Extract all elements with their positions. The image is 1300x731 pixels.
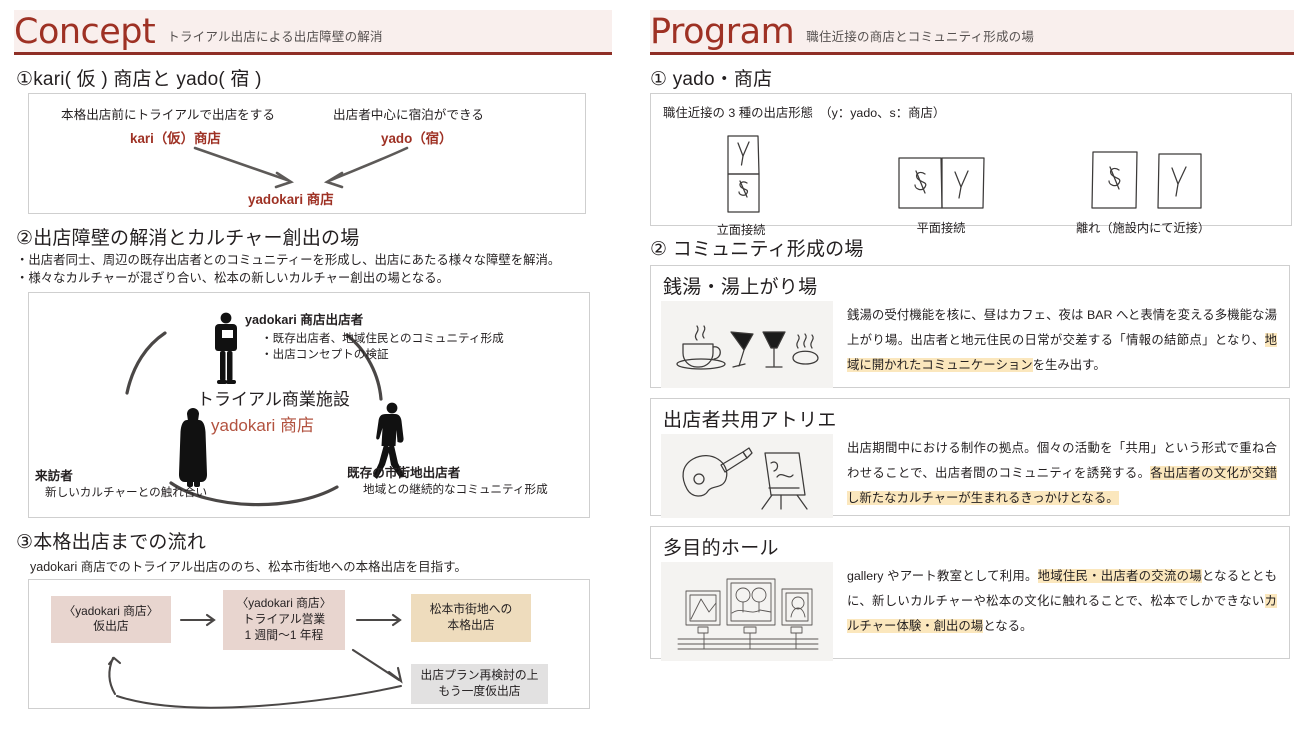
card-body: 銭湯の受付機能を核に、昼はカフェ、夜は BAR へと表情を変える多機能な湯上がり…	[651, 301, 1289, 388]
kari-yado-diagram-box: 本格出店前にトライアルで出店をする 出店者中心に宿泊ができる kari（仮）商店…	[28, 93, 586, 214]
program-subtitle: 職住近接の商店とコミュニティ形成の場	[794, 26, 1034, 52]
concept-title: Concept	[14, 15, 155, 52]
type-planar-connection: 平面接続	[893, 152, 989, 236]
type-detached: 離れ（施設内にて近接）	[1071, 148, 1215, 236]
flow-arrows	[29, 580, 589, 708]
card-title: 多目的ホール	[663, 533, 1289, 560]
concept-section2-bullets: ・出店者同士、周辺の既存出店者とのコミュニティーを形成し、出店にあたる様々な障壁…	[16, 252, 620, 288]
yado-shop-types-caption: 職住近接の 3 種の出店形態 （y：yado、s：商店）	[663, 103, 945, 121]
card-body: 出店期間中における制作の拠点。個々の活動を「共用」という形式で重ね合わせることで…	[651, 434, 1289, 518]
community-cycle-box: yadokari 商店出店者 ・既存出店者、地域住民とのコミュニティ形成 ・出店…	[28, 292, 590, 518]
concept-section3-heading: ③本格出店までの流れ	[16, 527, 620, 554]
card-text-run: gallery やアート教室として利用。	[847, 569, 1038, 583]
flow-diagram-box: 〈yadokari 商店〉仮出店 〈yadokari 商店〉トライアル営業1 週…	[28, 579, 590, 709]
role-existing-tenant-name: 既存の市街地出店者	[347, 462, 460, 481]
bath-cafe-bar-icon	[661, 301, 833, 388]
figure-visitor-icon	[178, 406, 208, 490]
type-caption: 離れ（施設内にて近接）	[1071, 218, 1215, 236]
card-sento: 銭湯・湯上がり場	[650, 265, 1290, 388]
vertical-stack-icon	[713, 132, 769, 216]
role-yadokari-tenant-detail: ・既存出店者、地域住民とのコミュニティ形成 ・出店コンセプトの検証	[261, 331, 504, 362]
palette-easel-icon	[661, 434, 833, 518]
palette-easel-glyphs	[677, 443, 817, 509]
card-title: 銭湯・湯上がり場	[663, 272, 1289, 299]
role-yadokari-tenant-name: yadokari 商店出店者	[245, 309, 363, 328]
card-hall: 多目的ホール	[650, 526, 1290, 659]
card-body: gallery やアート教室として利用。地域住民・出店者の交流の場となるとともに…	[651, 562, 1289, 661]
figure-yadokari-tenant-icon	[211, 311, 241, 385]
card-atelier: 出店者共用アトリエ	[650, 398, 1290, 516]
card-text-run: 銭湯の受付機能を核に、昼はカフェ、夜は BAR へと表情を変える多機能な湯上がり…	[847, 308, 1277, 347]
card-paragraph: 出店期間中における制作の拠点。個々の活動を「共用」という形式で重ね合わせることで…	[833, 434, 1289, 510]
type-caption: 立面接続	[713, 220, 769, 238]
concept-panel: Concept トライアル出店による出店障壁の解消 ①kari( 仮 ) 商店と…	[0, 0, 620, 731]
role-visitor-detail: 新しいカルチャーとの触れ合い	[45, 484, 207, 500]
gallery-frames-icon	[661, 562, 833, 661]
concept-section2-heading: ②出店障壁の解消とカルチャー創出の場	[16, 223, 620, 250]
concept-subtitle: トライアル出店による出店障壁の解消	[155, 26, 382, 52]
bath-cafe-bar-glyphs	[671, 314, 823, 376]
program-section2-heading: ② コミュニティ形成の場	[650, 234, 1300, 261]
concept-section3-subtitle: yadokari 商店でのトライアル出店ののち、松本市街地への本格出店を目指す。	[30, 556, 620, 575]
role-visitor-name: 来訪者	[35, 465, 73, 484]
type-caption: 平面接続	[893, 218, 989, 236]
card-text-run: を生み出す。	[1033, 358, 1106, 372]
cycle-center-line2: yadokari 商店	[211, 411, 314, 436]
concept-section1-heading: ①kari( 仮 ) 商店と yado( 宿 )	[16, 64, 620, 91]
kari-yado-arrows	[29, 94, 585, 213]
type-vertical-connection: 立面接続	[713, 132, 769, 238]
program-header-band: Program 職住近接の商店とコミュニティ形成の場	[650, 10, 1294, 55]
card-text-highlight: 地域住民・出店者の交流の場	[1038, 569, 1202, 583]
card-text-run: となる。	[983, 619, 1032, 633]
yado-shop-types-box: 職住近接の 3 種の出店形態 （y：yado、s：商店） 立面接続	[650, 93, 1292, 226]
card-title: 出店者共用アトリエ	[663, 405, 1289, 432]
card-paragraph: 銭湯の受付機能を核に、昼はカフェ、夜は BAR へと表情を変える多機能な湯上がり…	[833, 301, 1289, 377]
concept-header-band: Concept トライアル出店による出店障壁の解消	[14, 10, 612, 55]
role-detail-line: ・既存出店者、地域住民とのコミュニティ形成	[261, 331, 504, 347]
role-detail-line: ・出店コンセプトの検証	[261, 347, 504, 363]
bullet-item: ・様々なカルチャーが混ざり合い、松本の新しいカルチャー創出の場となる。	[16, 270, 620, 288]
horizontal-pair-icon	[893, 152, 989, 214]
program-panel: Program 職住近接の商店とコミュニティ形成の場 ① yado・商店 職住近…	[636, 0, 1300, 731]
role-existing-tenant-detail: 地域との継続的なコミュニティ形成	[363, 481, 548, 497]
separated-pair-icon	[1071, 148, 1215, 214]
cycle-center-line1: トライアル商業施設	[197, 385, 350, 410]
gallery-frames-glyphs	[672, 569, 822, 655]
program-title: Program	[650, 15, 794, 52]
program-section1-heading: ① yado・商店	[650, 64, 1300, 91]
slide-root: Concept トライアル出店による出店障壁の解消 ①kari( 仮 ) 商店と…	[0, 0, 1300, 731]
card-paragraph: gallery やアート教室として利用。地域住民・出店者の交流の場となるとともに…	[833, 562, 1289, 638]
bullet-item: ・出店者同士、周辺の既存出店者とのコミュニティーを形成し、出店にあたる様々な障壁…	[16, 252, 620, 270]
